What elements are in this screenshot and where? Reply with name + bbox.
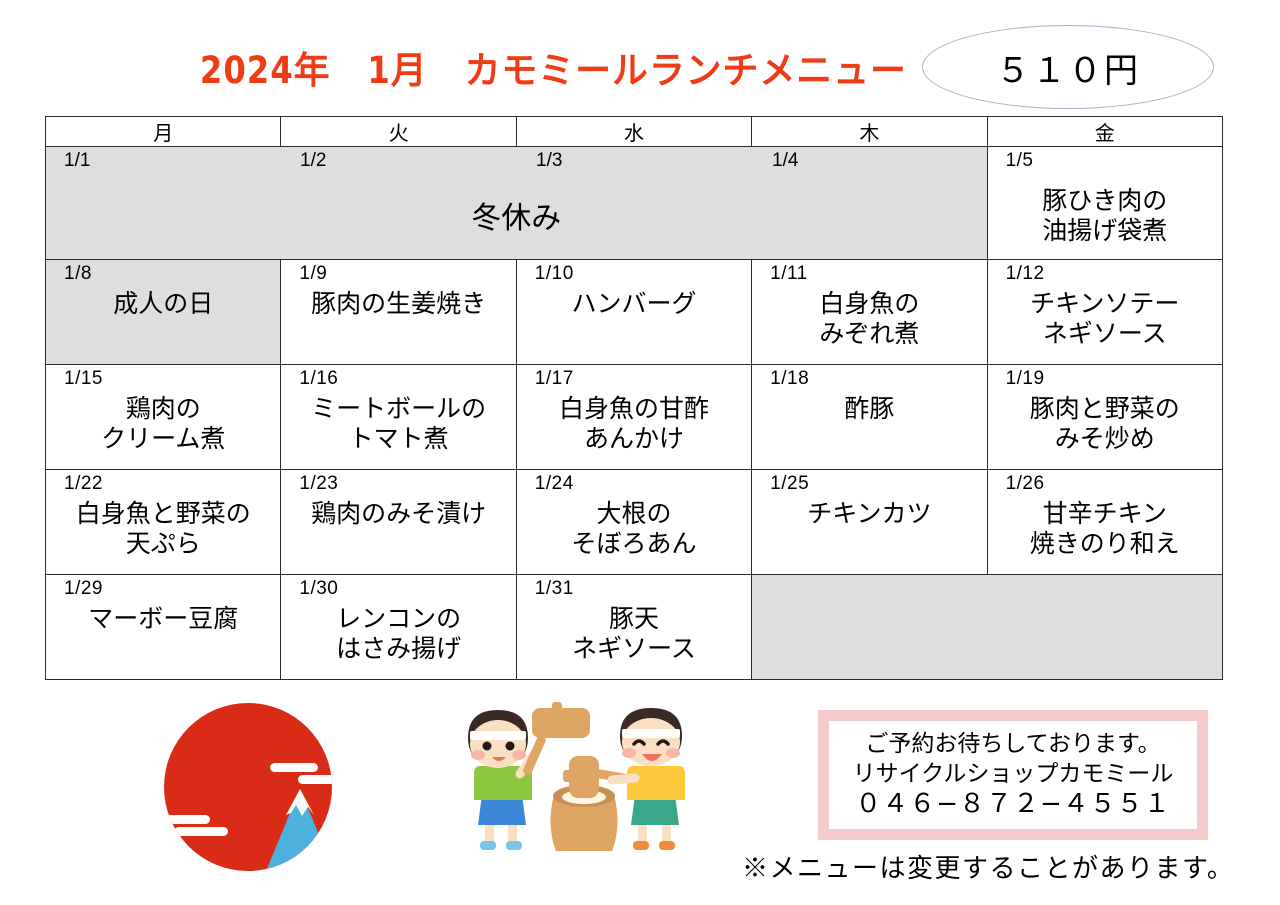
left-child-headband	[470, 731, 526, 740]
column-header-friday: 金	[987, 117, 1222, 147]
cell-date: 1/26	[1006, 473, 1045, 495]
cell-dish: レンコンのはさみ揚げ	[281, 605, 515, 664]
winter-break-label: 冬休み	[46, 193, 987, 237]
menu-change-disclaimer: ※メニューは変更することがあります。	[742, 848, 1234, 885]
cell-date: 1/3	[536, 150, 562, 172]
mount-fuji-sunrise-illustration	[148, 703, 348, 881]
menu-cell-0109: 1/9 豚肉の生姜焼き	[281, 260, 516, 365]
cell-date: 1/31	[535, 578, 574, 600]
cell-dish: 豚肉と野菜のみそ炒め	[988, 395, 1222, 454]
cell-dish: 鶏肉のクリーム煮	[46, 395, 280, 454]
cell-date: 1/22	[64, 473, 103, 495]
cell-date: 1/10	[535, 263, 574, 285]
cell-date: 1/19	[1006, 368, 1045, 390]
page-header: 2024年 1月 カモミールランチメニュー ５１０円	[0, 0, 1280, 112]
cell-dish: チキンカツ	[752, 500, 986, 530]
menu-cell-0129: 1/29 マーボー豆腐	[46, 575, 281, 680]
menu-cell-0110: 1/10 ハンバーグ	[516, 260, 751, 365]
column-header-monday: 月	[46, 117, 281, 147]
table-body: 1/1 1/2 1/3 1/4 冬休み 1/5 豚ひき肉の油揚げ袋煮 1/8 成…	[46, 147, 1223, 680]
cell-date: 1/25	[770, 473, 809, 495]
lunch-menu-table: 月 火 水 木 金 1/1 1/2 1/3 1/4 冬休み 1/5 豚ひき肉の油…	[45, 116, 1223, 680]
menu-cell-0130: 1/30 レンコンのはさみ揚げ	[281, 575, 516, 680]
cell-date: 1/8	[64, 263, 92, 285]
notice-line-reservation: ご予約お待ちしております。	[865, 728, 1160, 758]
table-row: 1/15 鶏肉のクリーム煮 1/16 ミートボールのトマト煮 1/17 白身魚の…	[46, 365, 1223, 470]
menu-cell-0112: 1/12 チキンソテーネギソース	[987, 260, 1222, 365]
table-row: 1/29 マーボー豆腐 1/30 レンコンのはさみ揚げ 1/31 豚天ネギソース	[46, 575, 1223, 680]
menu-cell-0131: 1/31 豚天ネギソース	[516, 575, 751, 680]
cell-date: 1/18	[770, 368, 809, 390]
cell-date: 1/11	[770, 263, 808, 285]
reservation-notice-stamp: ご予約お待ちしております。 リサイクルショップカモミール ０４６−８７２−４５５…	[818, 710, 1208, 840]
cell-dish: 甘辛チキン焼きのり和え	[988, 500, 1222, 559]
mochi-pounding-kids-illustration	[430, 700, 720, 885]
cell-dish: 豚ひき肉の油揚げ袋煮	[988, 187, 1222, 246]
menu-cell-0124: 1/24 大根のそぼろあん	[516, 470, 751, 575]
right-child-headband	[622, 729, 680, 738]
cell-date: 1/24	[535, 473, 574, 495]
price-label: ５１０円	[996, 43, 1140, 92]
cell-dish: ハンバーグ	[517, 290, 751, 320]
right-child-shirt	[627, 766, 685, 800]
cloud-upper-b	[298, 775, 348, 784]
cell-dish: 成人の日	[46, 290, 280, 320]
cell-date: 1/1	[64, 150, 90, 172]
cell-date: 1/30	[299, 578, 338, 600]
table-row: 1/22 白身魚と野菜の天ぷら 1/23 鶏肉のみそ漬け 1/24 大根のそぼろ…	[46, 470, 1223, 575]
column-header-thursday: 木	[752, 117, 987, 147]
cell-dish: 鶏肉のみそ漬け	[281, 500, 515, 530]
cell-date: 1/17	[535, 368, 574, 390]
cell-dish: マーボー豆腐	[46, 605, 280, 635]
cell-date: 1/9	[299, 263, 327, 285]
menu-cell-0123: 1/23 鶏肉のみそ漬け	[281, 470, 516, 575]
menu-cell-0111: 1/11 白身魚のみぞれ煮	[752, 260, 987, 365]
menu-cell-0115: 1/15 鶏肉のクリーム煮	[46, 365, 281, 470]
cell-dish: 白身魚の甘酢あんかけ	[517, 395, 751, 454]
menu-cell-0105: 1/5 豚ひき肉の油揚げ袋煮	[987, 147, 1222, 260]
cell-dish: ミートボールのトマト煮	[281, 395, 515, 454]
page-title: 2024年 1月 カモミールランチメニュー	[200, 40, 840, 94]
cell-dish: 白身魚のみぞれ煮	[752, 290, 986, 349]
table-header: 月 火 水 木 金	[46, 117, 1223, 147]
column-header-wednesday: 水	[516, 117, 751, 147]
cell-date: 1/4	[772, 150, 798, 172]
cell-dish: 酢豚	[752, 395, 986, 425]
price-badge: ５１０円	[922, 25, 1214, 109]
menu-cell-0117: 1/17 白身魚の甘酢あんかけ	[516, 365, 751, 470]
cloud-lower-a	[154, 815, 210, 824]
table-row: 1/8 成人の日 1/9 豚肉の生姜焼き 1/10 ハンバーグ 1/11 白身魚…	[46, 260, 1223, 365]
menu-cell-0122: 1/22 白身魚と野菜の天ぷら	[46, 470, 281, 575]
cell-date: 1/23	[299, 473, 338, 495]
menu-cell-0125: 1/25 チキンカツ	[752, 470, 987, 575]
cell-date: 1/2	[300, 150, 326, 172]
menu-cell-0119: 1/19 豚肉と野菜のみそ炒め	[987, 365, 1222, 470]
cell-dish: 大根のそぼろあん	[517, 500, 751, 559]
cell-date: 1/15	[64, 368, 103, 390]
cell-dish: 豚肉の生姜焼き	[281, 290, 515, 320]
winter-break-merged-cell: 1/1 1/2 1/3 1/4 冬休み	[46, 147, 988, 260]
menu-cell-0126: 1/26 甘辛チキン焼きのり和え	[987, 470, 1222, 575]
cell-date: 1/5	[1006, 150, 1034, 172]
cloud-upper-a	[270, 763, 318, 772]
right-child	[612, 708, 685, 850]
notice-content: ご予約お待ちしております。 リサイクルショップカモミール ０４６−８７２−４５５…	[829, 721, 1197, 829]
cloud-lower-b	[174, 827, 228, 836]
cell-dish: 白身魚と野菜の天ぷら	[46, 500, 280, 559]
notice-line-shopname: リサイクルショップカモミール	[853, 758, 1174, 788]
column-header-tuesday: 火	[281, 117, 516, 147]
table-row: 1/1 1/2 1/3 1/4 冬休み 1/5 豚ひき肉の油揚げ袋煮	[46, 147, 1223, 260]
menu-cell-0116: 1/16 ミートボールのトマト煮	[281, 365, 516, 470]
cell-date: 1/16	[299, 368, 338, 390]
weekday-header-row: 月 火 水 木 金	[46, 117, 1223, 147]
cell-date: 1/12	[1006, 263, 1045, 285]
menu-cell-0108: 1/8 成人の日	[46, 260, 281, 365]
cell-dish: チキンソテーネギソース	[988, 290, 1222, 349]
empty-merged-cell	[752, 575, 1223, 680]
cell-date: 1/29	[64, 578, 103, 600]
notice-phone-number: ０４６−８７２−４５５１	[855, 788, 1171, 822]
cell-dish: 豚天ネギソース	[517, 605, 751, 664]
menu-cell-0118: 1/18 酢豚	[752, 365, 987, 470]
